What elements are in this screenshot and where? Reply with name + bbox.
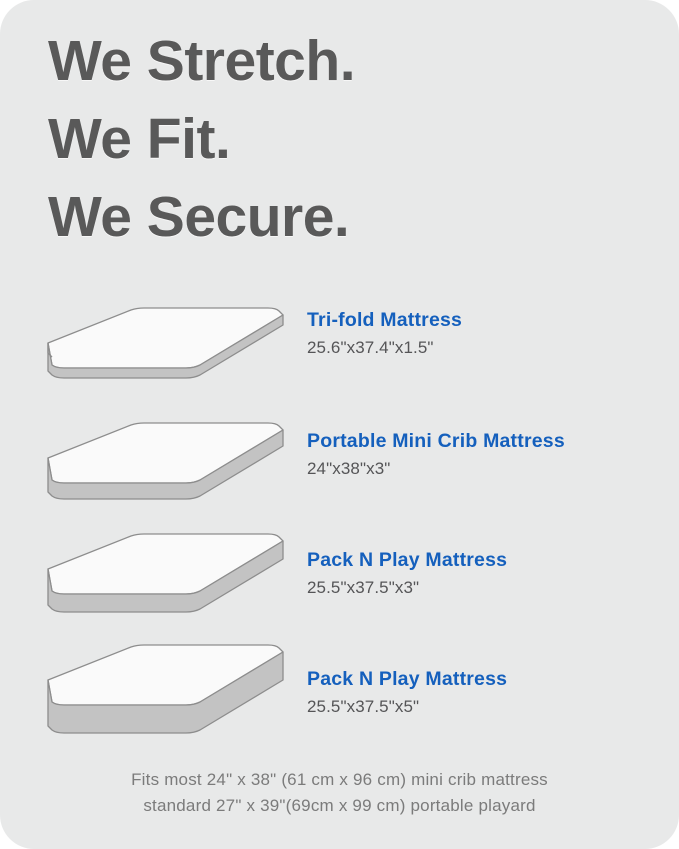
product-row: Pack N Play Mattress 25.5"x37.5"x3" xyxy=(0,525,679,640)
product-info: Tri-fold Mattress 25.6"x37.4"x1.5" xyxy=(307,309,667,358)
mattress-slab-icon xyxy=(36,295,296,410)
product-row: Tri-fold Mattress 25.6"x37.4"x1.5" xyxy=(0,295,679,410)
product-title[interactable]: Portable Mini Crib Mattress xyxy=(307,430,667,453)
product-row: Pack N Play Mattress 25.5"x37.5"x5" xyxy=(0,640,679,755)
footer-note: Fits most 24" x 38" (61 cm x 96 cm) mini… xyxy=(0,767,679,819)
footer-line-1: Fits most 24" x 38" (61 cm x 96 cm) mini… xyxy=(0,767,679,793)
product-dimensions: 25.5"x37.5"x3" xyxy=(307,578,667,598)
product-dimensions: 25.5"x37.5"x5" xyxy=(307,697,667,717)
footer-line-2: standard 27" x 39"(69cm x 99 cm) portabl… xyxy=(0,793,679,819)
headline-block: We Stretch. We Fit. We Secure. xyxy=(48,22,648,256)
headline-line-1: We Stretch. xyxy=(48,22,648,100)
product-list: Tri-fold Mattress 25.6"x37.4"x1.5" Porta… xyxy=(0,295,679,755)
product-title[interactable]: Pack N Play Mattress xyxy=(307,668,667,691)
headline-line-2: We Fit. xyxy=(48,100,648,178)
mattress-slab-icon xyxy=(36,525,296,640)
product-title[interactable]: Pack N Play Mattress xyxy=(307,549,667,572)
product-info: Pack N Play Mattress 25.5"x37.5"x3" xyxy=(307,549,667,598)
product-info: Pack N Play Mattress 25.5"x37.5"x5" xyxy=(307,668,667,717)
headline-line-3: We Secure. xyxy=(48,178,648,256)
mattress-slab-icon xyxy=(36,410,296,525)
product-dimensions: 24"x38"x3" xyxy=(307,459,667,479)
product-title[interactable]: Tri-fold Mattress xyxy=(307,309,667,332)
product-row: Portable Mini Crib Mattress 24"x38"x3" xyxy=(0,410,679,525)
product-info-card: We Stretch. We Fit. We Secure. Tri-fold … xyxy=(0,0,679,849)
product-info: Portable Mini Crib Mattress 24"x38"x3" xyxy=(307,430,667,479)
product-dimensions: 25.6"x37.4"x1.5" xyxy=(307,338,667,358)
mattress-slab-icon xyxy=(36,640,296,755)
